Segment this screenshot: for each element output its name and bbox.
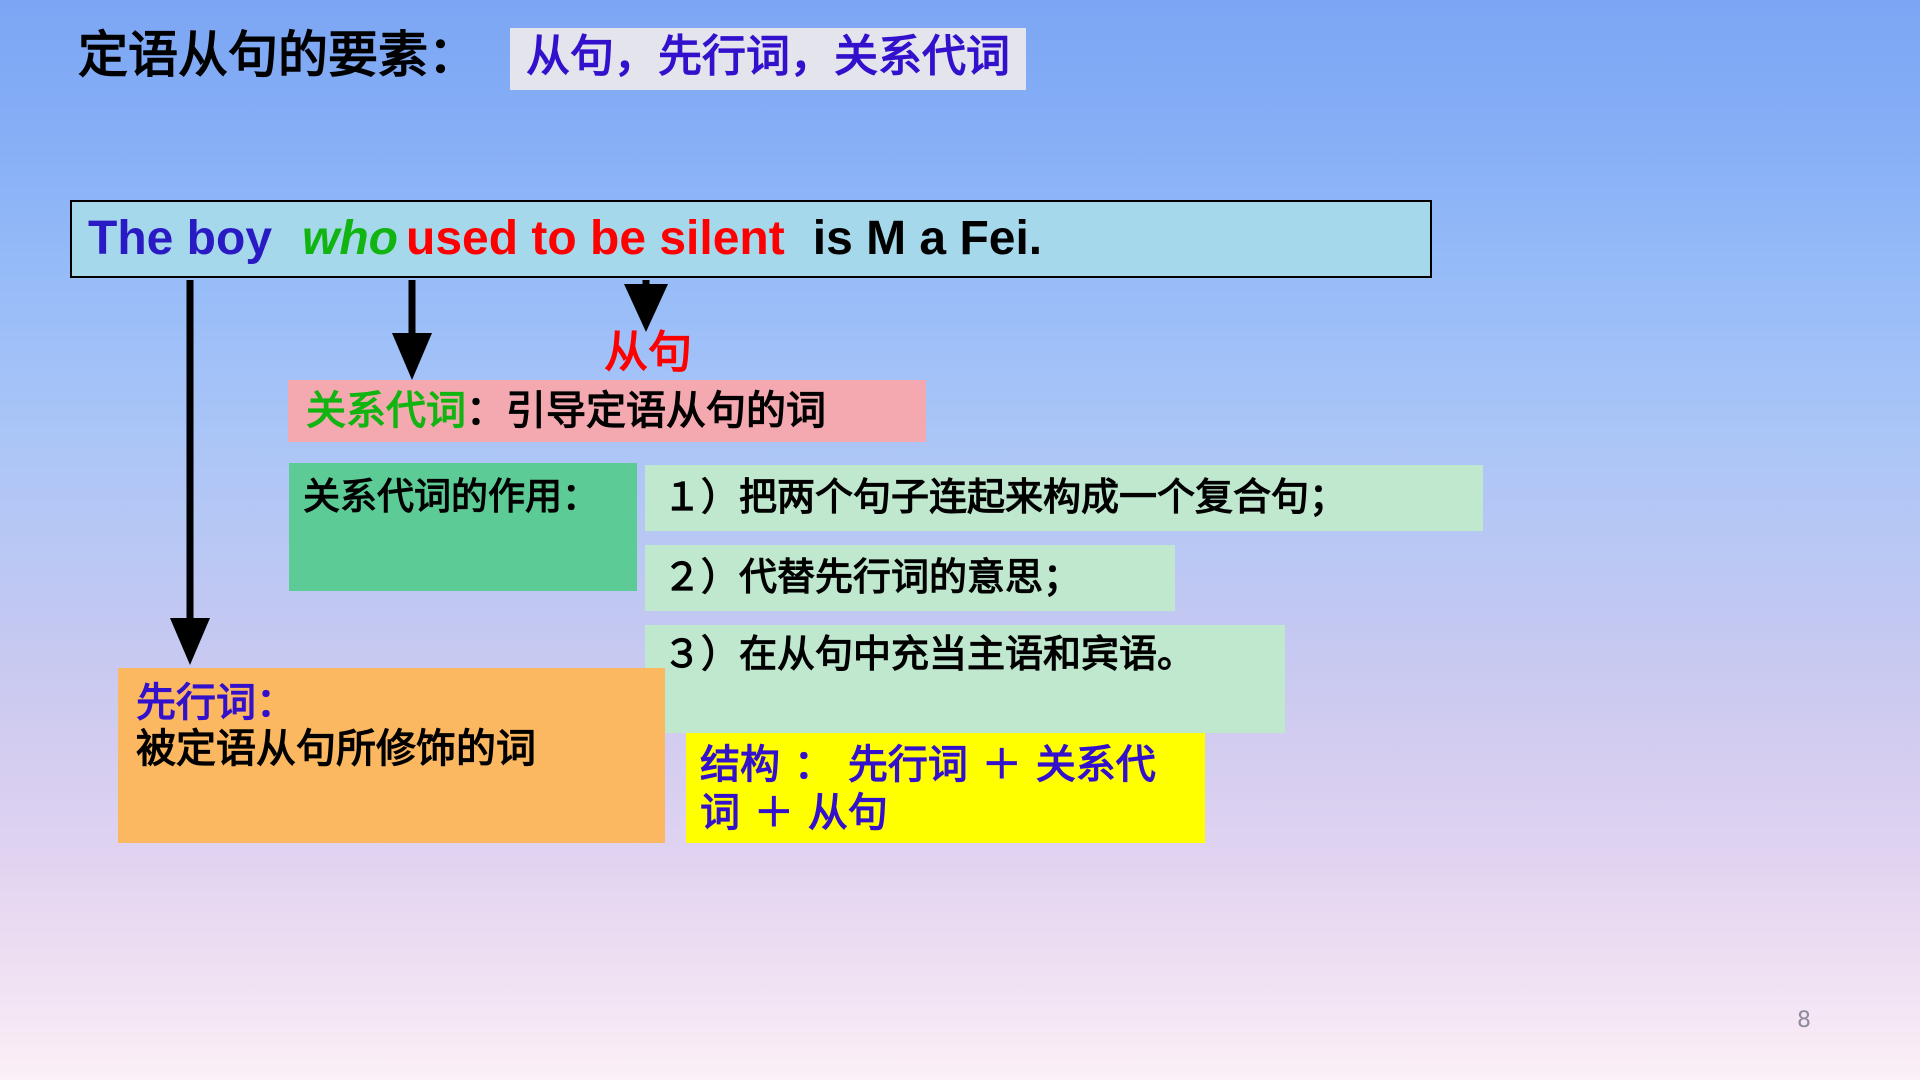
function-item-2-text: ２）代替先行词的意思； xyxy=(663,556,1081,600)
elements-summary-text: 从句，先行词，关系代词 xyxy=(526,34,1010,80)
sentence-antecedent: The boy xyxy=(88,215,272,263)
clause-label: 从句 xyxy=(604,331,692,375)
antecedent-definition-box: 先行词： 被定语从句所修饰的词 xyxy=(118,668,665,843)
function-item-1: １）把两个句子连起来构成一个复合句； xyxy=(645,465,1483,531)
arrow-layer xyxy=(0,0,1920,1080)
example-sentence-box: The boy who used to be silent is M a Fei… xyxy=(70,200,1432,278)
relative-pronoun-definition: ：引导定语从句的词 xyxy=(466,391,826,431)
relative-pronoun-arrow xyxy=(392,280,432,380)
page-title: 定语从句的要素： xyxy=(78,30,478,80)
sentence-clause: used to be silent xyxy=(406,215,785,263)
sentence-relative-pronoun: who xyxy=(272,215,406,263)
page-number: 8 xyxy=(1797,1010,1811,1032)
structure-formula-box: 结构 ： 先行词 ＋ 关系代词 ＋ 从句 xyxy=(686,733,1205,843)
relative-pronoun-role-box: 关系代词的作用： xyxy=(289,463,637,591)
antecedent-term: 先行词： xyxy=(136,680,665,726)
slide-canvas: 定语从句的要素： 从句，先行词，关系代词 The boy who used to… xyxy=(0,0,1920,1080)
sentence-main-predicate: is M a Fei. xyxy=(785,215,1042,263)
clause-arrow xyxy=(624,280,668,332)
title-row: 定语从句的要素： 从句，先行词，关系代词 xyxy=(78,30,1026,90)
antecedent-arrow xyxy=(170,280,210,665)
function-item-3: ３）在从句中充当主语和宾语。 xyxy=(645,625,1285,733)
function-item-1-text: １）把两个句子连起来构成一个复合句； xyxy=(663,476,1347,520)
structure-formula-text: 结构 ： 先行词 ＋ 关系代词 ＋ 从句 xyxy=(700,741,1190,837)
function-item-2: ２）代替先行词的意思； xyxy=(645,545,1175,611)
relative-pronoun-role-label: 关系代词的作用： xyxy=(303,475,603,519)
relative-pronoun-definition-box: 关系代词 ：引导定语从句的词 xyxy=(288,380,926,442)
function-item-3-text: ３）在从句中充当主语和宾语。 xyxy=(663,633,1195,677)
relative-pronoun-term: 关系代词 xyxy=(306,391,466,431)
elements-summary-box: 从句，先行词，关系代词 xyxy=(510,28,1026,90)
antecedent-definition: 被定语从句所修饰的词 xyxy=(136,726,665,772)
